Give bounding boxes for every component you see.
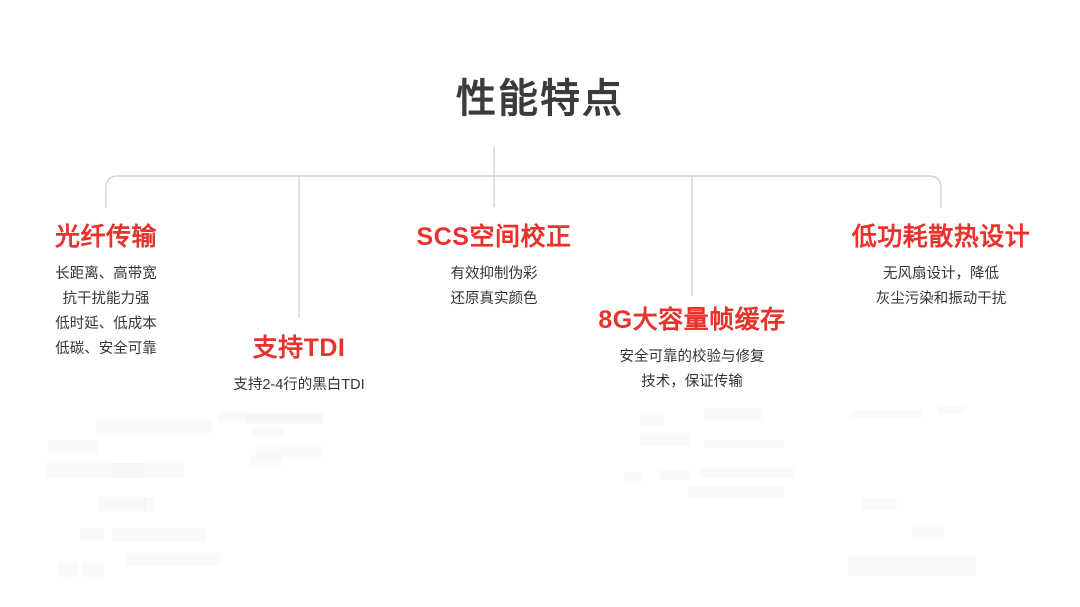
ghost-block xyxy=(46,463,144,478)
feature-heading: 8G大容量帧缓存 xyxy=(598,305,785,336)
ghost-block xyxy=(253,427,283,437)
feature-heading: 支持TDI xyxy=(233,333,364,364)
feature-item-optical-transmission[interactable]: 光纤传输 长距离、高带宽 抗干扰能力强 低时延、低成本 低碳、安全可靠 xyxy=(55,222,157,362)
feature-item-tdi-support[interactable]: 支持TDI 支持2-4行的黑白TDI xyxy=(233,333,364,398)
ghost-block xyxy=(96,419,212,433)
ghost-block xyxy=(82,563,104,577)
feature-item-8g-frame-buffer[interactable]: 8G大容量帧缓存 安全可靠的校验与修复 技术，保证传输 xyxy=(598,305,785,395)
ghost-block xyxy=(861,498,897,510)
feature-line: 低碳、安全可靠 xyxy=(55,337,157,362)
feature-line: 抗干扰能力强 xyxy=(55,287,157,312)
ghost-block xyxy=(250,455,282,467)
feature-item-scs-spatial-correction[interactable]: SCS空间校正 有效抑制伪彩 还原真实颜色 xyxy=(417,222,572,312)
ghost-block xyxy=(98,497,146,511)
ghost-block xyxy=(848,556,976,576)
ghost-block xyxy=(48,440,98,453)
ghost-block xyxy=(144,497,154,512)
ghost-block xyxy=(688,486,784,498)
feature-line: 无风扇设计，降低 xyxy=(852,262,1031,287)
ghost-block xyxy=(640,415,664,426)
feature-heading: 光纤传输 xyxy=(55,222,157,253)
feature-line: 支持2-4行的黑白TDI xyxy=(233,373,364,398)
ghost-block xyxy=(256,445,322,457)
ghost-block xyxy=(660,470,690,480)
ghost-block xyxy=(912,527,944,539)
ghost-block xyxy=(704,440,784,448)
ghost-block xyxy=(126,553,220,566)
feature-item-low-power-cooling[interactable]: 低功耗散热设计 无风扇设计，降低 灰尘污染和振动干扰 xyxy=(852,222,1031,312)
feature-line: 还原真实颜色 xyxy=(417,287,572,312)
ghost-block xyxy=(218,412,322,421)
feature-heading: 低功耗散热设计 xyxy=(852,222,1031,253)
feature-line: 长距离、高带宽 xyxy=(55,262,157,287)
feature-line: 低时延、低成本 xyxy=(55,312,157,337)
ghost-block xyxy=(704,408,762,420)
feature-line: 安全可靠的校验与修复 xyxy=(598,345,785,370)
feature-heading: SCS空间校正 xyxy=(417,222,572,253)
connector-horizontal-bar xyxy=(106,176,941,208)
ghost-block xyxy=(852,410,922,418)
page-title: 性能特点 xyxy=(0,76,1080,122)
ghost-block xyxy=(938,406,964,414)
feature-line: 灰尘污染和振动干扰 xyxy=(852,287,1031,312)
ghost-block xyxy=(624,472,642,483)
ghost-block xyxy=(700,468,794,478)
feature-line: 技术，保证传输 xyxy=(598,370,785,395)
feature-line: 有效抑制伪彩 xyxy=(417,262,572,287)
ghost-block xyxy=(80,528,104,540)
ghost-block xyxy=(58,563,78,577)
ghost-block xyxy=(246,414,324,424)
ghost-block xyxy=(640,433,690,446)
ghost-block xyxy=(112,463,184,478)
slide-canvas: 性能特点 xyxy=(0,0,1080,607)
ghost-block xyxy=(112,528,206,542)
